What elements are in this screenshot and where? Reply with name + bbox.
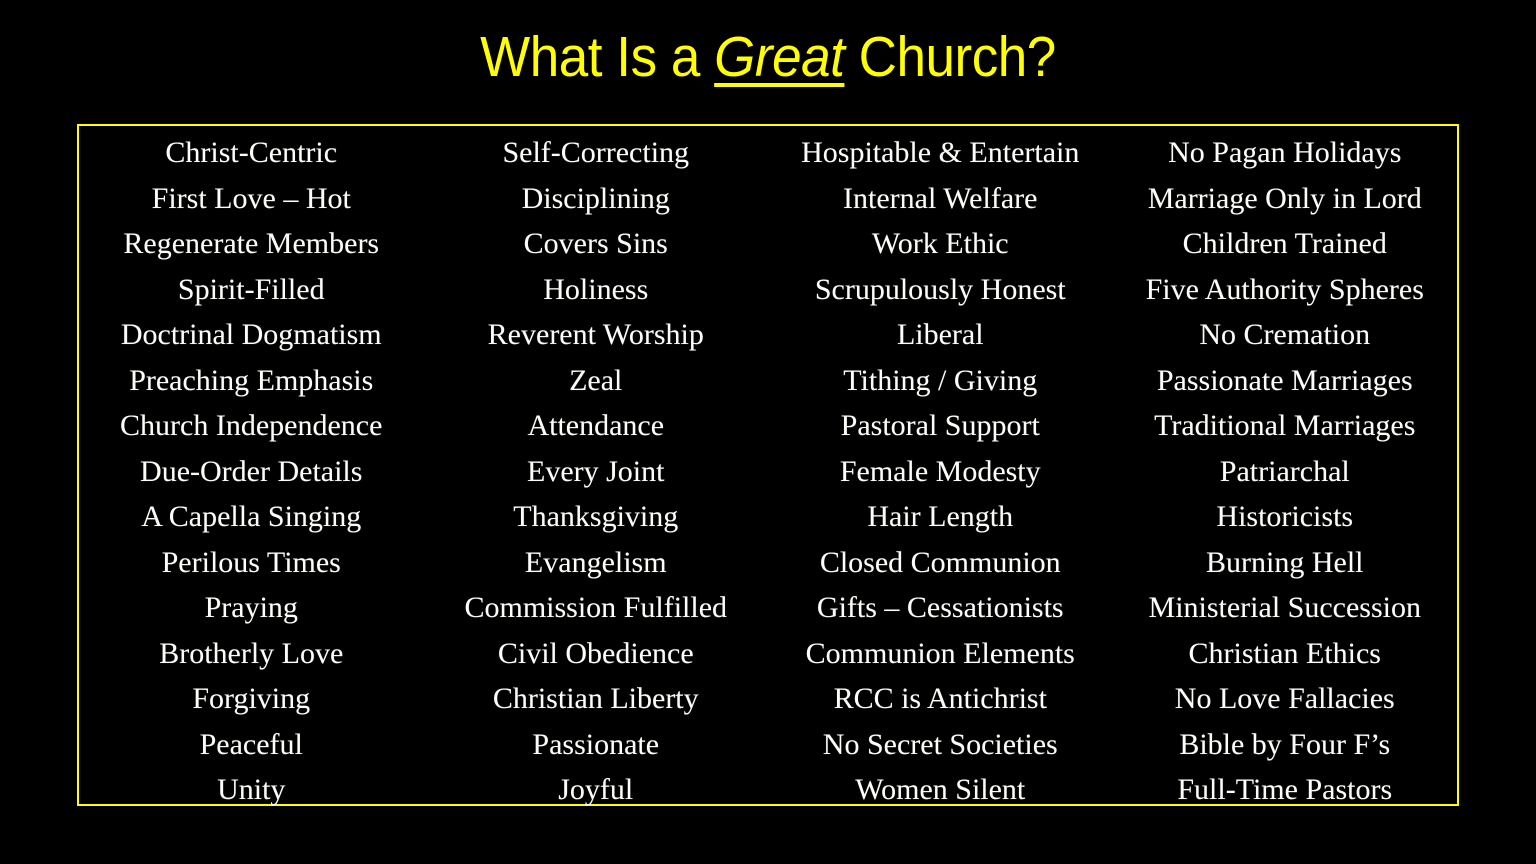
list-item: Doctrinal Dogmatism: [79, 312, 424, 358]
list-item: No Cremation: [1113, 312, 1458, 358]
list-item: Women Silent: [768, 767, 1113, 813]
column-3: Hospitable & EntertainInternal WelfareWo…: [768, 126, 1113, 813]
list-item: Female Modesty: [768, 449, 1113, 495]
list-item: Patriarchal: [1113, 449, 1458, 495]
list-item: Regenerate Members: [79, 221, 424, 267]
list-item: Hospitable & Entertain: [768, 130, 1113, 176]
list-item: Tithing / Giving: [768, 358, 1113, 404]
list-item: Holiness: [424, 267, 769, 313]
list-item: Disciplining: [424, 176, 769, 222]
list-item: Traditional Marriages: [1113, 403, 1458, 449]
list-item: No Secret Societies: [768, 722, 1113, 768]
list-item: Reverent Worship: [424, 312, 769, 358]
title-part-after: Church?: [844, 25, 1055, 89]
column-2: Self-CorrectingDiscipliningCovers SinsHo…: [424, 126, 769, 813]
column-4: No Pagan HolidaysMarriage Only in LordCh…: [1113, 126, 1458, 813]
title-part-before: What Is a: [480, 25, 714, 89]
list-item: Ministerial Succession: [1113, 585, 1458, 631]
list-item: Preaching Emphasis: [79, 358, 424, 404]
attributes-list-box: Christ-CentricFirst Love – HotRegenerate…: [77, 124, 1459, 806]
title-emphasis-great: Great: [714, 25, 844, 89]
list-item: Scrupulously Honest: [768, 267, 1113, 313]
list-item: Thanksgiving: [424, 494, 769, 540]
list-item: Civil Obedience: [424, 631, 769, 677]
list-item: Unity: [79, 767, 424, 813]
list-item: Historicists: [1113, 494, 1458, 540]
list-item: RCC is Antichrist: [768, 676, 1113, 722]
list-item: Every Joint: [424, 449, 769, 495]
list-item: Due-Order Details: [79, 449, 424, 495]
list-item: Christian Ethics: [1113, 631, 1458, 677]
list-item: Perilous Times: [79, 540, 424, 586]
list-item: Peaceful: [79, 722, 424, 768]
list-item: Forgiving: [79, 676, 424, 722]
column-1: Christ-CentricFirst Love – HotRegenerate…: [79, 126, 424, 813]
list-item: A Capella Singing: [79, 494, 424, 540]
list-item: Gifts – Cessationists: [768, 585, 1113, 631]
list-item: Bible by Four F’s: [1113, 722, 1458, 768]
page-title: What Is a Great Church?: [54, 22, 1482, 92]
list-item: Marriage Only in Lord: [1113, 176, 1458, 222]
list-item: Full-Time Pastors: [1113, 767, 1458, 813]
list-item: Spirit-Filled: [79, 267, 424, 313]
list-item: Praying: [79, 585, 424, 631]
list-item: No Love Fallacies: [1113, 676, 1458, 722]
list-item: Passionate Marriages: [1113, 358, 1458, 404]
list-item: Passionate: [424, 722, 769, 768]
list-item: Christian Liberty: [424, 676, 769, 722]
list-item: Evangelism: [424, 540, 769, 586]
list-item: Internal Welfare: [768, 176, 1113, 222]
list-item: Commission Fulfilled: [424, 585, 769, 631]
list-item: Children Trained: [1113, 221, 1458, 267]
list-item: Communion Elements: [768, 631, 1113, 677]
list-item: Pastoral Support: [768, 403, 1113, 449]
list-item: Attendance: [424, 403, 769, 449]
list-item: Self-Correcting: [424, 130, 769, 176]
list-item: First Love – Hot: [79, 176, 424, 222]
list-item: Liberal: [768, 312, 1113, 358]
list-item: Burning Hell: [1113, 540, 1458, 586]
list-item: Hair Length: [768, 494, 1113, 540]
list-item: Zeal: [424, 358, 769, 404]
list-item: Covers Sins: [424, 221, 769, 267]
list-item: Joyful: [424, 767, 769, 813]
list-item: Closed Communion: [768, 540, 1113, 586]
list-item: No Pagan Holidays: [1113, 130, 1458, 176]
list-item: Brotherly Love: [79, 631, 424, 677]
list-item: Five Authority Spheres: [1113, 267, 1458, 313]
list-item: Church Independence: [79, 403, 424, 449]
list-item: Work Ethic: [768, 221, 1113, 267]
slide-canvas: What Is a Great Church? Christ-CentricFi…: [0, 0, 1536, 864]
list-item: Christ-Centric: [79, 130, 424, 176]
